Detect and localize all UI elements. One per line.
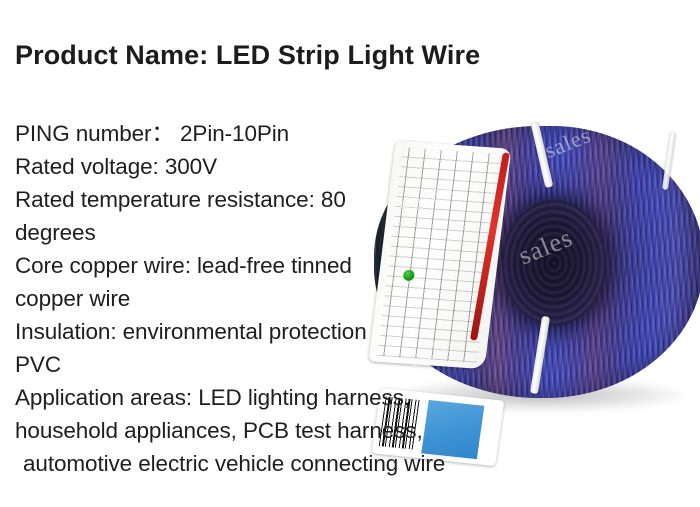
spec-line: Core copper wire: lead-free tinned: [15, 249, 575, 282]
spec-line: Application areas: LED lighting harness,: [15, 381, 575, 414]
spec-line: PVC: [15, 348, 575, 381]
spec-line: Rated voltage: 300V: [15, 150, 575, 183]
spec-line: PING number： 2Pin-10Pin: [15, 117, 575, 150]
spec-line: copper wire: [15, 282, 575, 315]
specification-list: PING number： 2Pin-10Pin Rated voltage: 3…: [15, 117, 575, 480]
product-detail-page: sales sales sales sales Product Name: LE…: [0, 0, 700, 507]
spec-line: degrees: [15, 216, 575, 249]
spec-line: Insulation: environmental protection: [15, 315, 575, 348]
text-content: Product Name: LED Strip Light Wire PING …: [0, 0, 700, 507]
spec-line: Rated temperature resistance: 80: [15, 183, 575, 216]
page-title: Product Name: LED Strip Light Wire: [15, 40, 480, 71]
spec-line: automotive electric vehicle connecting w…: [15, 447, 575, 480]
spec-line: household appliances, PCB test harness,: [15, 414, 575, 447]
